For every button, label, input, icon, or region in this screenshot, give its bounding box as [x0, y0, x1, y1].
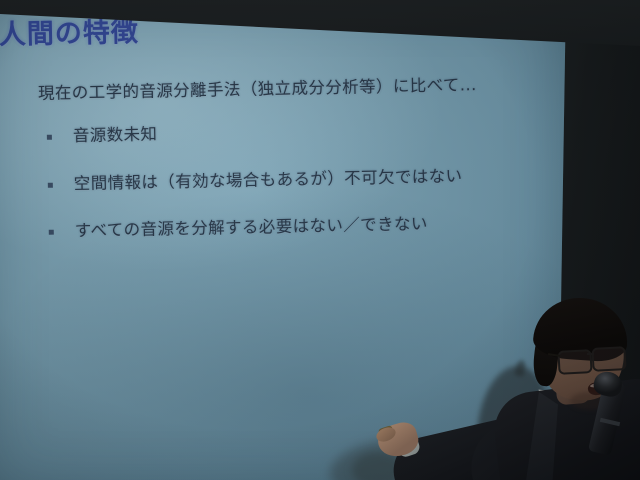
- presenter-figure: [0, 0, 640, 480]
- presentation-photo: 人間の特徴 現在の工学的音源分離手法（独立成分分析等）に比べて... 音源数未知…: [0, 0, 640, 480]
- eyeglasses-right-lens: [591, 346, 626, 372]
- eyeglasses-bridge: [587, 353, 594, 355]
